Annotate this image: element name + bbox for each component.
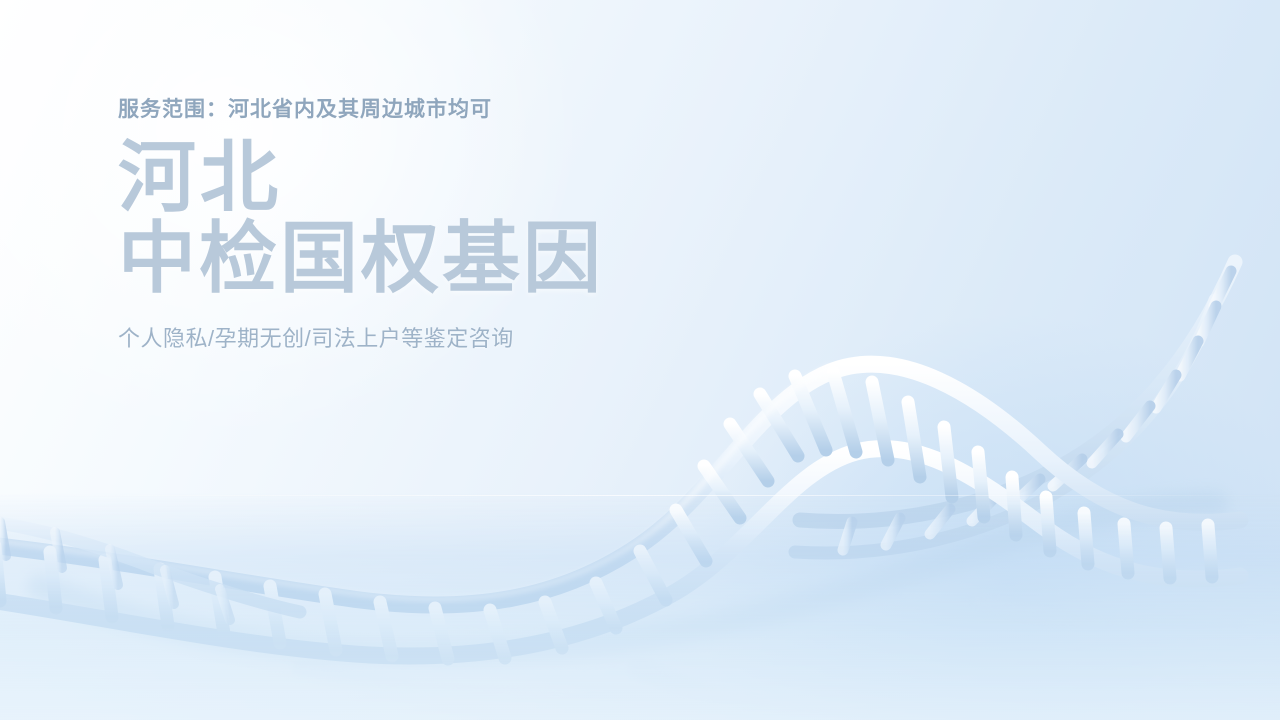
page-title-line-1: 河北 [118, 133, 282, 221]
title-block: 服务范围：河北省内及其周边城市均可 河北 中检国权基因 个人隐私/孕期无创/司法… [118, 96, 838, 354]
page-title-line-2: 中检国权基因 [118, 218, 838, 299]
slide-canvas: 服务范围：河北省内及其周边城市均可 河北 中检国权基因 个人隐私/孕期无创/司法… [0, 0, 1280, 720]
service-scope-text: 服务范围：河北省内及其周边城市均可 [118, 96, 838, 123]
helix-back [795, 262, 1235, 553]
helix-reflection [300, 600, 1240, 720]
horizon-line [0, 495, 1280, 496]
services-subtitle: 个人隐私/孕期无创/司法上户等鉴定咨询 [118, 324, 838, 355]
page-title: 河北 中检国权基因 [118, 137, 838, 299]
helix-front [0, 364, 1240, 659]
floor-gradient [0, 492, 1280, 720]
helix-left-tail [0, 520, 300, 620]
